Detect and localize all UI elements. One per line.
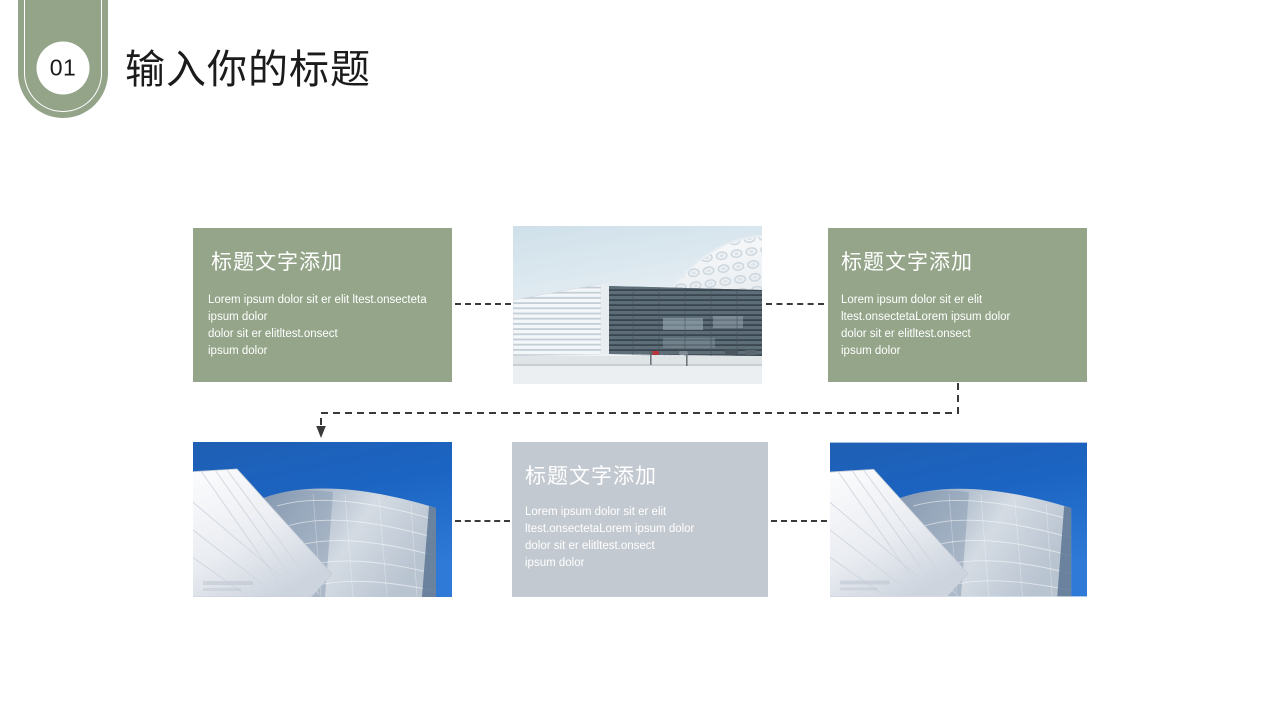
card-bottom-center-body-line: Lorem ipsum dolor sit er elit (525, 504, 694, 521)
slide-number-badge: 01 (18, 0, 108, 118)
card-top-left-body-line: ipsum dolor (208, 309, 427, 326)
card-top-right-body: Lorem ipsum dolor sit er elit ltest.onse… (841, 292, 1010, 360)
photo-top-center[interactable] (513, 226, 762, 384)
page-title: 输入你的标题 (125, 47, 371, 93)
card-top-right-body-line: Lorem ipsum dolor sit er elit (841, 292, 1010, 309)
metal-clad-building-image (830, 442, 1087, 597)
connector-elbow-top-right-to-bottom-left (300, 378, 980, 446)
connector-bottom-left-to-gray (455, 520, 510, 522)
connector-photo-to-top-right (766, 303, 824, 305)
badge-circle: 01 (37, 42, 90, 95)
card-top-left-body-line: Lorem ipsum dolor sit er elit ltest.onse… (208, 292, 427, 309)
card-bottom-center[interactable]: 标题文字添加 Lorem ipsum dolor sit er elit lte… (512, 442, 768, 597)
connector-gray-to-bottom-right (771, 520, 827, 522)
card-top-left-body-line: ipsum dolor (208, 343, 427, 360)
slide-number: 01 (50, 57, 77, 80)
card-top-left[interactable]: 标题文字添加 Lorem ipsum dolor sit er elit lte… (193, 228, 452, 382)
card-top-right-body-line: ipsum dolor (841, 343, 1010, 360)
photo-bottom-left[interactable] (193, 442, 452, 597)
card-top-left-body: Lorem ipsum dolor sit er elit ltest.onse… (208, 292, 427, 360)
card-bottom-center-body: Lorem ipsum dolor sit er elit ltest.onse… (525, 504, 694, 572)
photo-bottom-right[interactable] (830, 442, 1087, 597)
card-top-left-body-line: dolor sit er elitltest.onsect (208, 326, 427, 343)
metal-clad-building-image (193, 442, 452, 597)
stadium-facade-image (513, 226, 762, 384)
arrow-head-icon (316, 426, 326, 438)
card-bottom-center-title: 标题文字添加 (525, 466, 657, 487)
card-top-right[interactable]: 标题文字添加 Lorem ipsum dolor sit er elit lte… (828, 228, 1087, 382)
card-top-right-body-line: ltest.onsectetaLorem ipsum dolor (841, 309, 1010, 326)
card-top-right-title: 标题文字添加 (841, 252, 973, 273)
card-top-left-title: 标题文字添加 (211, 252, 343, 273)
connector-top-left-to-photo (455, 303, 511, 305)
card-top-right-body-line: dolor sit er elitltest.onsect (841, 326, 1010, 343)
card-bottom-center-body-line: ltest.onsectetaLorem ipsum dolor (525, 521, 694, 538)
slide-canvas: 01 输入你的标题 标题文字添加 Lorem ipsum dolor sit e… (0, 0, 1280, 720)
card-bottom-center-body-line: ipsum dolor (525, 555, 694, 572)
card-bottom-center-body-line: dolor sit er elitltest.onsect (525, 538, 694, 555)
